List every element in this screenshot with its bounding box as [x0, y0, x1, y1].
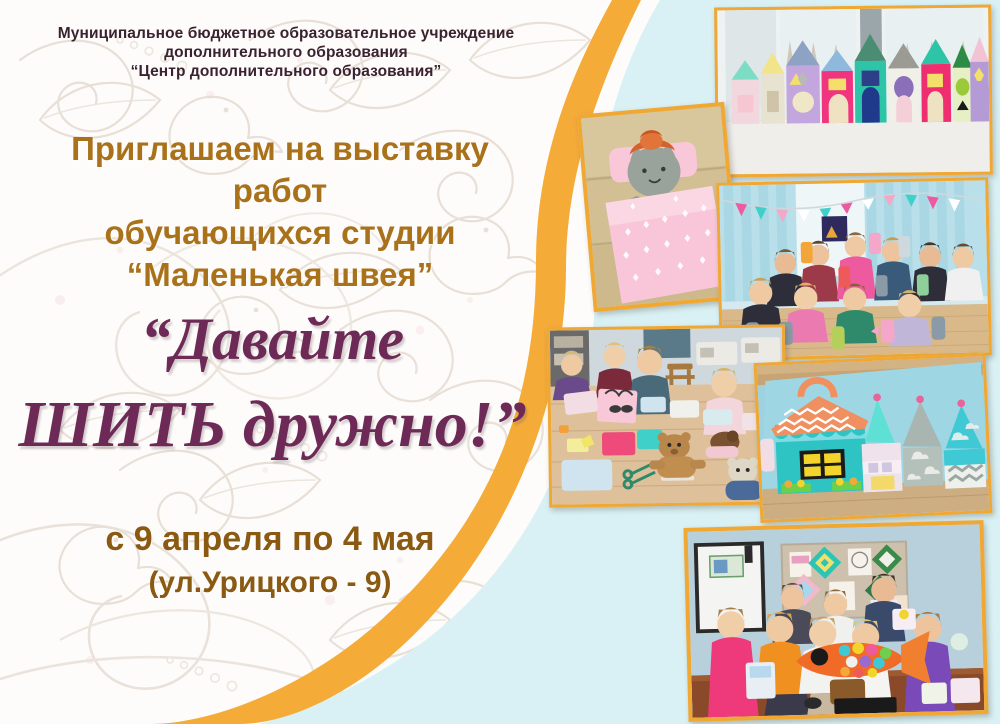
org-line-1: Муниципальное бюджетное образовательное … — [8, 24, 564, 43]
photo-fabric-castles — [714, 5, 993, 178]
invite-line-3: “Маленькая швея” — [20, 254, 540, 296]
photo-house-bags — [754, 353, 993, 523]
photo-sewing-table — [547, 324, 787, 507]
date-range: с 9 апреля по 4 мая — [20, 516, 520, 562]
headline-line-1: “Давайте — [0, 296, 545, 382]
org-line-3: “Центр дополнительного образования” — [8, 62, 564, 81]
headline-line-2: ШИТЬ дружно!” — [0, 382, 545, 468]
invite-line-2: обучающихся студии — [20, 212, 540, 254]
invitation-text: Приглашаем на выставку работ обучающихся… — [20, 128, 540, 296]
dates-block: с 9 апреля по 4 мая (ул.Урицкого - 9) — [20, 516, 520, 604]
organization-title: Муниципальное бюджетное образовательное … — [8, 24, 564, 81]
invite-line-1: Приглашаем на выставку работ — [20, 128, 540, 212]
org-line-2: дополнительного образования — [8, 43, 564, 62]
headline: “Давайте ШИТЬ дружно!” — [0, 296, 545, 468]
poster-canvas: Муниципальное бюджетное образовательное … — [0, 0, 1000, 724]
photo-group-with-fish — [684, 520, 989, 722]
text-column: Муниципальное бюджетное образовательное … — [0, 0, 570, 724]
address: (ул.Урицкого - 9) — [20, 562, 520, 604]
